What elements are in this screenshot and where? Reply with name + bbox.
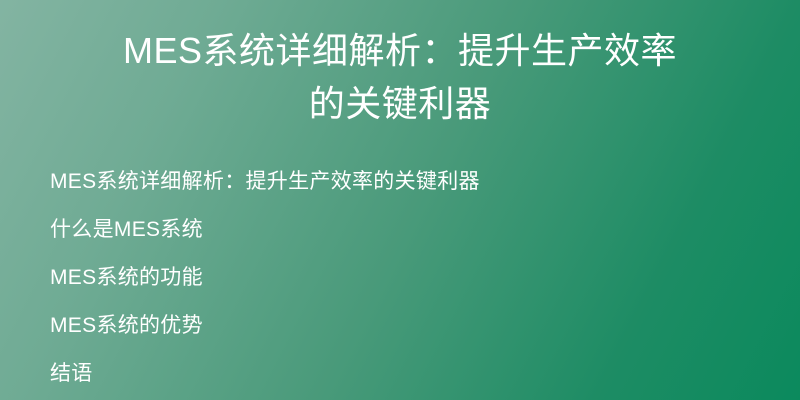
list-item[interactable]: MES系统详细解析：提升生产效率的关键利器 [50,158,750,206]
list-item[interactable]: MES系统的功能 [50,254,750,302]
article-cover-card: MES系统详细解析：提升生产效率的关键利器 MES系统详细解析：提升生产效率的关… [0,0,800,400]
list-item[interactable]: 什么是MES系统 [50,206,750,254]
outline-list: MES系统详细解析：提升生产效率的关键利器 什么是MES系统 MES系统的功能 … [50,158,750,398]
list-item[interactable]: MES系统的优势 [50,302,750,350]
page-title: MES系统详细解析：提升生产效率的关键利器 [105,24,695,130]
list-item[interactable]: 结语 [50,350,750,398]
title-block: MES系统详细解析：提升生产效率的关键利器 [105,24,695,130]
